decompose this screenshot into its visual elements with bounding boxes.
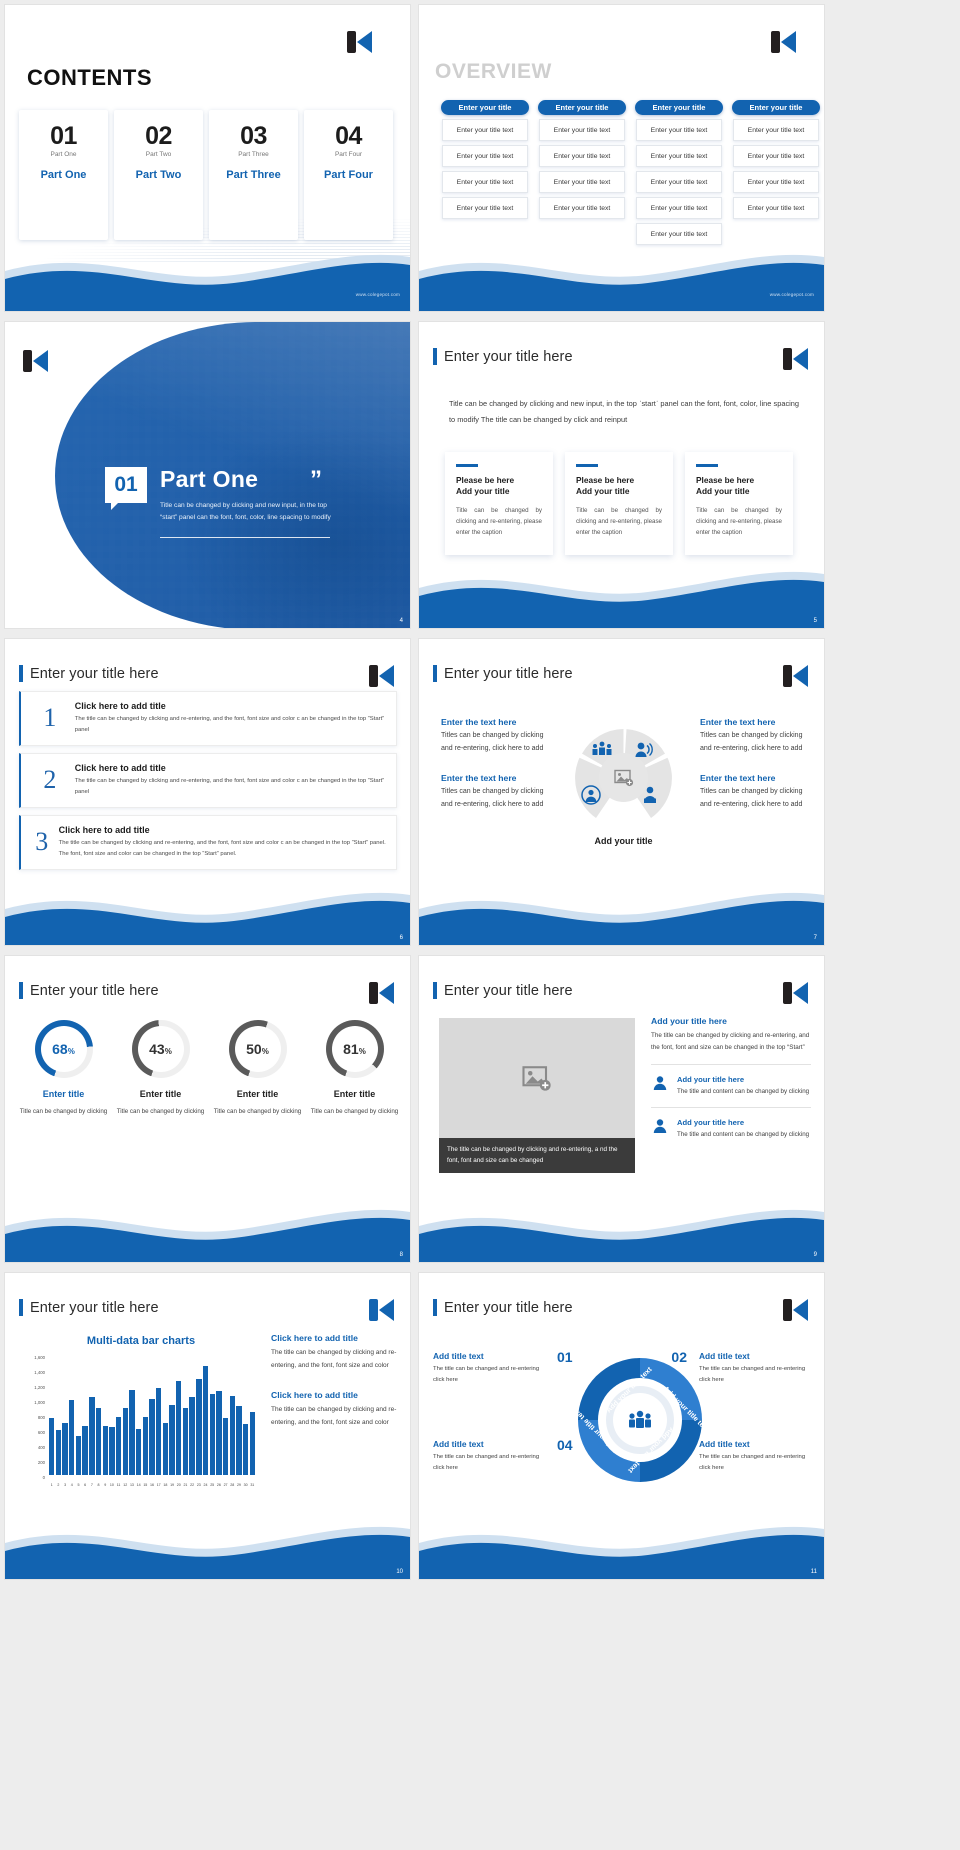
- title-accent-bar: [433, 1299, 437, 1316]
- bar: [196, 1379, 201, 1475]
- x-tick-label: 25: [210, 1483, 215, 1487]
- wave-decoration: [5, 1509, 410, 1579]
- x-tick-label: 17: [156, 1483, 161, 1487]
- y-tick-label: 1,000: [23, 1400, 45, 1405]
- wave-decoration: [419, 1192, 824, 1262]
- bar-series: [49, 1355, 255, 1475]
- y-tick-label: 0: [23, 1475, 45, 1480]
- box-body: Title can be changed by clicking and re-…: [456, 506, 542, 539]
- bar: [203, 1366, 208, 1476]
- progress-ring: 43%: [132, 1020, 190, 1078]
- box-title-line2: Add your title: [456, 486, 542, 497]
- title-text: Enter your title here: [444, 983, 573, 999]
- page-number: 10: [396, 1569, 403, 1575]
- x-tick-label: 15: [143, 1483, 148, 1487]
- bar: [143, 1417, 148, 1476]
- bar: [116, 1417, 121, 1476]
- feature-box-list: Please be here Add your title Title can …: [445, 452, 793, 555]
- donut-diagram: [571, 725, 676, 830]
- ring-number: 43: [149, 1041, 165, 1057]
- ring-desc: Title can be changed by clicking: [20, 1106, 107, 1117]
- slide-image-and-list[interactable]: Enter your title here The title can be c…: [418, 955, 825, 1263]
- overview-cell[interactable]: Enter your title text: [442, 119, 528, 141]
- list-item[interactable]: 1 Click here to add title The title can …: [19, 691, 397, 746]
- overview-columns: Enter your title Enter your title text E…: [441, 100, 820, 245]
- overview-column: Enter your title Enter your title text E…: [732, 100, 820, 245]
- overview-cell[interactable]: Enter your title text: [733, 171, 819, 193]
- quadrant-heading: Add title text: [433, 1439, 545, 1449]
- bar: [216, 1391, 221, 1475]
- row-desc: The title can be changed by clicking and…: [59, 838, 386, 860]
- slide-three-boxes[interactable]: Enter your title here Title can be chang…: [418, 321, 825, 629]
- page-number: 11: [811, 1569, 817, 1575]
- page-number: 7: [814, 935, 817, 941]
- quadrant-desc: The title can be changed and re-entering…: [433, 1364, 545, 1386]
- quadrant-desc: The title can be changed and re-entering…: [699, 1364, 811, 1386]
- ring-label: Enter title: [237, 1089, 279, 1099]
- item-desc: The title and content can be changed by …: [677, 1129, 809, 1140]
- overview-column: Enter your title Enter your title text E…: [441, 100, 529, 245]
- wave-decoration: [419, 1509, 824, 1579]
- card-name: Part Three: [226, 169, 280, 181]
- quadrant-heading: Add title text: [699, 1351, 811, 1361]
- slide-contents[interactable]: CONTENTS 01 Part One Part One 02 Part Tw…: [4, 4, 411, 312]
- list-item[interactable]: Add your title here The title and conten…: [651, 1107, 811, 1140]
- x-tick-label: 24: [203, 1483, 208, 1487]
- block-heading: Click here to add title: [271, 1333, 399, 1343]
- box-title-line2: Add your title: [696, 486, 782, 497]
- x-tick-label: 10: [109, 1483, 114, 1487]
- overview-cell[interactable]: Enter your title text: [636, 197, 722, 219]
- page-title: Enter your title here: [19, 1299, 159, 1316]
- card-subtitle: Part Three: [238, 151, 269, 158]
- chart-plot-area: 1,6001,4001,2001,0008006004002000 123456…: [23, 1355, 255, 1487]
- bar: [156, 1388, 161, 1475]
- person-book-icon: [641, 785, 659, 804]
- ring-item[interactable]: 50% Enter title Title can be changed by …: [209, 1020, 306, 1117]
- x-tick-label: 4: [69, 1483, 74, 1487]
- wave-decoration: [5, 1192, 410, 1262]
- title-accent-bar: [19, 1299, 23, 1316]
- quadrant-block[interactable]: Add title text The title can be changed …: [699, 1439, 811, 1474]
- headset-icon: [634, 741, 654, 758]
- list-item[interactable]: 2 Click here to add title The title can …: [19, 753, 397, 808]
- quadrant-text-group: Add title text The title can be changed …: [433, 1337, 811, 1522]
- quadrant-heading: Add title text: [699, 1439, 811, 1449]
- brand-logo-icon: [347, 31, 372, 53]
- feature-box[interactable]: Please be here Add your title Title can …: [565, 452, 673, 555]
- box-title-line1: Please be here: [576, 475, 662, 486]
- cycle-center-icon: [613, 1393, 667, 1447]
- y-tick-label: 1,600: [23, 1355, 45, 1360]
- person-icon: [651, 1075, 669, 1097]
- row-title: Click here to add title: [75, 763, 386, 773]
- x-tick-label: 8: [96, 1483, 101, 1487]
- ring-item[interactable]: 81% Enter title Title can be changed by …: [306, 1020, 403, 1117]
- bar: [250, 1412, 255, 1475]
- x-tick-label: 6: [82, 1483, 87, 1487]
- x-tick-label: 20: [176, 1483, 181, 1487]
- box-title-line1: Please be here: [456, 475, 542, 486]
- ring-unit: %: [68, 1047, 75, 1056]
- overview-cell[interactable]: Enter your title text: [539, 197, 625, 219]
- card-subtitle: Part One: [50, 151, 76, 158]
- ring-desc: Title can be changed by clicking: [117, 1106, 204, 1117]
- x-tick-label: 26: [216, 1483, 221, 1487]
- x-tick-label: 19: [169, 1483, 174, 1487]
- center-caption: Add your title: [571, 836, 676, 846]
- overview-cell[interactable]: Enter your title text: [733, 119, 819, 141]
- contents-card[interactable]: 02 Part Two Part Two: [114, 110, 203, 240]
- card-subtitle: Part Four: [335, 151, 362, 158]
- x-tick-label: 13: [129, 1483, 134, 1487]
- ring-label: Enter title: [43, 1089, 85, 1099]
- overview-cell[interactable]: Enter your title text: [442, 171, 528, 193]
- card-name: Part One: [41, 169, 87, 181]
- lead-paragraph: Title can be changed by clicking and new…: [449, 396, 799, 427]
- card-name: Part Four: [324, 169, 373, 181]
- title-accent-bar: [433, 665, 437, 682]
- page-number: 6: [400, 935, 403, 941]
- block-heading: Click here to add title: [271, 1390, 399, 1400]
- overview-cell[interactable]: Enter your title text: [442, 145, 528, 167]
- brand-logo-icon: [783, 665, 808, 687]
- brand-logo-icon: [783, 982, 808, 1004]
- right-pane: Add your title here The title can be cha…: [651, 1016, 811, 1140]
- y-tick-label: 600: [23, 1430, 45, 1435]
- page-title: Enter your title here: [19, 665, 159, 682]
- row-title: Click here to add title: [75, 701, 386, 711]
- bar: [236, 1406, 241, 1475]
- pane-heading: Add your title here: [651, 1016, 811, 1026]
- feature-box[interactable]: Please be here Add your title Title can …: [685, 452, 793, 555]
- list-item[interactable]: 3 Click here to add title The title can …: [19, 815, 397, 870]
- x-tick-label: 12: [123, 1483, 128, 1487]
- wave-decoration: [5, 241, 410, 311]
- bar: [183, 1408, 188, 1476]
- quote-mark-icon: ”: [310, 466, 322, 494]
- title-accent-bar: [433, 982, 437, 999]
- text-block[interactable]: Enter the text here Titles can be change…: [700, 717, 810, 756]
- bar: [96, 1408, 101, 1476]
- column-header-pill[interactable]: Enter your title: [538, 100, 626, 115]
- row-number: 1: [25, 705, 75, 731]
- x-tick-label: 30: [243, 1483, 248, 1487]
- x-tick-label: 28: [230, 1483, 235, 1487]
- title-accent-bar: [433, 348, 437, 365]
- box-body: Title can be changed by clicking and re-…: [696, 506, 782, 539]
- quadrant-desc: The title can be changed and re-entering…: [699, 1452, 811, 1474]
- bar: [109, 1427, 114, 1475]
- right-text-column: Enter the text here Titles can be change…: [700, 717, 810, 828]
- block-heading: Enter the text here: [700, 717, 810, 727]
- block-desc: The title can be changed by clicking and…: [271, 1347, 399, 1372]
- block-desc: Titles can be changed by clicking and re…: [441, 729, 551, 756]
- block-heading: Enter the text here: [700, 773, 810, 783]
- card-number: 04: [335, 124, 362, 149]
- row-number: 2: [25, 767, 75, 793]
- item-heading: Add your title here: [677, 1075, 809, 1084]
- item-desc: The title and content can be changed by …: [677, 1086, 809, 1097]
- text-block[interactable]: Enter the text here Titles can be change…: [441, 717, 551, 756]
- block-heading: Enter the text here: [441, 717, 551, 727]
- ring-unit: %: [359, 1047, 366, 1056]
- group-icon: [627, 1410, 653, 1430]
- title-text: Enter your title here: [30, 1300, 159, 1316]
- bar: [136, 1429, 141, 1476]
- bar: [82, 1426, 87, 1476]
- slide-deck: CONTENTS 01 Part One Part One 02 Part Tw…: [0, 0, 960, 1850]
- bar: [62, 1423, 67, 1476]
- image-placeholder-icon: [614, 769, 634, 787]
- block-desc: Titles can be changed by clicking and re…: [700, 785, 810, 812]
- list-item[interactable]: Add your title here The title and conten…: [651, 1064, 811, 1097]
- x-tick-label: 21: [183, 1483, 188, 1487]
- ring-list: 68% Enter title Title can be changed by …: [15, 1020, 403, 1117]
- ring-label: Enter title: [334, 1089, 376, 1099]
- ring-value: 81%: [343, 1041, 366, 1057]
- ring-desc: Title can be changed by clicking: [214, 1106, 301, 1117]
- progress-ring: 81%: [326, 1020, 384, 1078]
- page-title: Enter your title here: [433, 348, 573, 365]
- page-title: Enter your title here: [433, 982, 573, 999]
- card-number: 03: [240, 124, 267, 149]
- numbered-row-list: 1 Click here to add title The title can …: [19, 691, 397, 870]
- box-title-line2: Add your title: [576, 486, 662, 497]
- overview-cell[interactable]: Enter your title text: [442, 197, 528, 219]
- page-number: 5: [814, 618, 817, 624]
- row-title: Click here to add title: [59, 825, 386, 835]
- section-body: Title can be changed by clicking and new…: [160, 500, 335, 523]
- ring-desc: Title can be changed by clicking: [311, 1106, 398, 1117]
- title-text: Enter your title here: [30, 666, 159, 682]
- quadrant-heading: Add title text: [433, 1351, 545, 1361]
- title-text: Enter your title here: [444, 349, 573, 365]
- quadrant-block[interactable]: Add title text The title can be changed …: [699, 1351, 811, 1386]
- section-title: Part One: [160, 466, 258, 493]
- person-badge-icon: [581, 785, 601, 805]
- x-tick-label: 18: [163, 1483, 168, 1487]
- contents-card[interactable]: 01 Part One Part One: [19, 110, 108, 240]
- feature-box[interactable]: Please be here Add your title Title can …: [445, 452, 553, 555]
- contents-card[interactable]: 03 Part Three Part Three: [209, 110, 298, 240]
- card-name: Part Two: [136, 169, 182, 181]
- overview-cell[interactable]: Enter your title text: [733, 145, 819, 167]
- page-title: OVERVIEW: [435, 60, 552, 84]
- x-tick-label: 2: [56, 1483, 61, 1487]
- page-title: Enter your title here: [433, 1299, 573, 1316]
- cycle-wheel: Add your title text Add your title text …: [575, 1355, 705, 1485]
- x-tick-label: 16: [149, 1483, 154, 1487]
- left-text-column: Enter the text here Titles can be change…: [441, 717, 551, 828]
- page-number: 9: [814, 1252, 817, 1258]
- slide-circular-diagram[interactable]: Enter your title here Enter the text her…: [418, 638, 825, 946]
- page-title: Enter your title here: [19, 982, 159, 999]
- bar: [56, 1430, 61, 1475]
- bar: [103, 1426, 108, 1476]
- card-number: 02: [145, 124, 172, 149]
- title-text: Enter your title here: [444, 1300, 573, 1316]
- bar: [49, 1418, 54, 1475]
- x-axis-ticks: 1234567891011121314151617181920212223242…: [49, 1483, 255, 1487]
- wave-decoration: [5, 875, 410, 945]
- box-title-line1: Please be here: [696, 475, 782, 486]
- brand-logo-icon: [783, 1299, 808, 1321]
- row-number: 3: [25, 829, 59, 855]
- brand-logo-icon: [783, 348, 808, 370]
- y-tick-label: 200: [23, 1460, 45, 1465]
- x-tick-label: 31: [250, 1483, 255, 1487]
- x-tick-label: 14: [136, 1483, 141, 1487]
- x-tick-label: 5: [76, 1483, 81, 1487]
- ring-item[interactable]: 68% Enter title Title can be changed by …: [15, 1020, 112, 1117]
- ring-number: 81: [343, 1041, 359, 1057]
- column-header-pill[interactable]: Enter your title: [441, 100, 529, 115]
- x-tick-label: 3: [62, 1483, 67, 1487]
- x-tick-label: 22: [189, 1483, 194, 1487]
- bar: [129, 1390, 134, 1476]
- footer-url: www.colegepot.com: [770, 292, 814, 297]
- ring-item[interactable]: 43% Enter title Title can be changed by …: [112, 1020, 209, 1117]
- overview-cell[interactable]: Enter your title text: [539, 119, 625, 141]
- page-title: CONTENTS: [27, 65, 152, 91]
- slide-numbered-list[interactable]: Enter your title here 1 Click here to ad…: [4, 638, 411, 946]
- box-body: Title can be changed by clicking and re-…: [576, 506, 662, 539]
- overview-column: Enter your title Enter your title text E…: [538, 100, 626, 245]
- bar: [169, 1405, 174, 1476]
- overview-cell[interactable]: Enter your title text: [733, 197, 819, 219]
- overview-cell[interactable]: Enter your title text: [636, 171, 722, 193]
- contents-card[interactable]: 04 Part Four Part Four: [304, 110, 393, 240]
- progress-ring: 50%: [229, 1020, 287, 1078]
- chart-side-text: Click here to add title The title can be…: [271, 1333, 399, 1430]
- x-tick-label: 29: [236, 1483, 241, 1487]
- overview-cell[interactable]: Enter your title text: [539, 145, 625, 167]
- bar: [223, 1418, 228, 1475]
- bar: [176, 1381, 181, 1476]
- quadrant-number: 04: [557, 1437, 573, 1453]
- footer-url: www.colegepot.com: [356, 292, 400, 297]
- y-tick-label: 400: [23, 1445, 45, 1450]
- quadrant-block[interactable]: Add title text The title can be changed …: [433, 1351, 545, 1386]
- section-number-badge: 01: [105, 467, 147, 503]
- block-desc: Titles can be changed by clicking and re…: [700, 729, 810, 756]
- x-tick-label: 23: [196, 1483, 201, 1487]
- progress-ring: 68%: [35, 1020, 93, 1078]
- block-desc: The title can be changed by clicking and…: [271, 1404, 399, 1429]
- brand-logo-icon: [369, 1299, 394, 1321]
- bar: [230, 1396, 235, 1476]
- text-block[interactable]: Click here to add title The title can be…: [271, 1333, 399, 1372]
- wave-decoration: [419, 241, 824, 311]
- y-tick-label: 800: [23, 1415, 45, 1420]
- title-accent-bar: [19, 982, 23, 999]
- ring-value: 50%: [246, 1041, 269, 1057]
- row-desc: The title can be changed by clicking and…: [75, 714, 386, 736]
- divider: [160, 537, 330, 538]
- block-desc: Titles can be changed by clicking and re…: [441, 785, 551, 812]
- text-block[interactable]: Enter the text here Titles can be change…: [700, 773, 810, 812]
- ring-value: 68%: [52, 1041, 75, 1057]
- ring-unit: %: [165, 1047, 172, 1056]
- slide-cycle-diagram[interactable]: Enter your title here Add title text The…: [418, 1272, 825, 1580]
- wave-decoration: [419, 558, 824, 628]
- slide-percentage-rings[interactable]: Enter your title here 68% Enter title Ti…: [4, 955, 411, 1263]
- pane-intro: Add your title here The title can be cha…: [651, 1016, 811, 1054]
- group-icon: [591, 741, 613, 757]
- accent-dash: [696, 464, 718, 467]
- column-header-pill[interactable]: Enter your title: [635, 100, 723, 115]
- overview-column: Enter your title Enter your title text E…: [635, 100, 723, 245]
- bar: [243, 1424, 248, 1475]
- x-tick-label: 27: [223, 1483, 228, 1487]
- card-number: 01: [50, 124, 77, 149]
- bar: [76, 1436, 81, 1475]
- overview-cell[interactable]: Enter your title text: [636, 119, 722, 141]
- slide-bar-chart[interactable]: Enter your title here Multi-data bar cha…: [4, 1272, 411, 1580]
- bar: [210, 1394, 215, 1475]
- page-number: 4: [400, 618, 403, 624]
- brand-logo-icon: [771, 31, 796, 53]
- page-number: 8: [400, 1252, 403, 1258]
- accent-dash: [576, 464, 598, 467]
- slide-overview[interactable]: OVERVIEW Enter your title Enter your tit…: [418, 4, 825, 312]
- text-block[interactable]: Click here to add title The title can be…: [271, 1390, 399, 1429]
- text-block[interactable]: Enter the text here Titles can be change…: [441, 773, 551, 812]
- ring-unit: %: [262, 1047, 269, 1056]
- y-tick-label: 1,400: [23, 1370, 45, 1375]
- x-tick-label: 7: [89, 1483, 94, 1487]
- y-tick-label: 1,200: [23, 1385, 45, 1390]
- quadrant-desc: The title can be changed and re-entering…: [433, 1452, 545, 1474]
- bar: [69, 1400, 74, 1475]
- title-text: Enter your title here: [444, 666, 573, 682]
- slide-section-part-one[interactable]: 01 Part One ” Title can be changed by cl…: [4, 321, 411, 629]
- image-caption: The title can be changed by clicking and…: [439, 1138, 635, 1173]
- overview-cell[interactable]: Enter your title text: [636, 145, 722, 167]
- quadrant-number: 01: [557, 1349, 573, 1365]
- x-tick-label: 1: [49, 1483, 54, 1487]
- block-heading: Enter the text here: [441, 773, 551, 783]
- x-tick-label: 9: [103, 1483, 108, 1487]
- bar: [163, 1423, 168, 1476]
- bar: [149, 1399, 154, 1476]
- ring-number: 68: [52, 1041, 68, 1057]
- quadrant-block[interactable]: Add title text The title can be changed …: [433, 1439, 545, 1474]
- accent-dash: [456, 464, 478, 467]
- title-accent-bar: [19, 665, 23, 682]
- chart-title: Multi-data bar charts: [31, 1335, 251, 1347]
- brand-logo-icon: [369, 982, 394, 1004]
- brand-logo-icon: [23, 350, 48, 372]
- bar: [89, 1397, 94, 1475]
- brand-logo-icon: [369, 665, 394, 687]
- overview-cell[interactable]: Enter your title text: [539, 171, 625, 193]
- image-placeholder-icon: [522, 1065, 552, 1092]
- image-placeholder[interactable]: [439, 1018, 635, 1138]
- x-tick-label: 11: [116, 1483, 121, 1487]
- bar: [189, 1397, 194, 1475]
- person-icon: [651, 1118, 669, 1140]
- contents-card-list: 01 Part One Part One 02 Part Two Part Tw…: [19, 110, 393, 240]
- wave-decoration: [419, 875, 824, 945]
- page-title: Enter your title here: [433, 665, 573, 682]
- bar: [123, 1408, 128, 1476]
- title-text: Enter your title here: [30, 983, 159, 999]
- card-subtitle: Part Two: [146, 151, 172, 158]
- column-header-pill[interactable]: Enter your title: [732, 100, 820, 115]
- ring-number: 50: [246, 1041, 262, 1057]
